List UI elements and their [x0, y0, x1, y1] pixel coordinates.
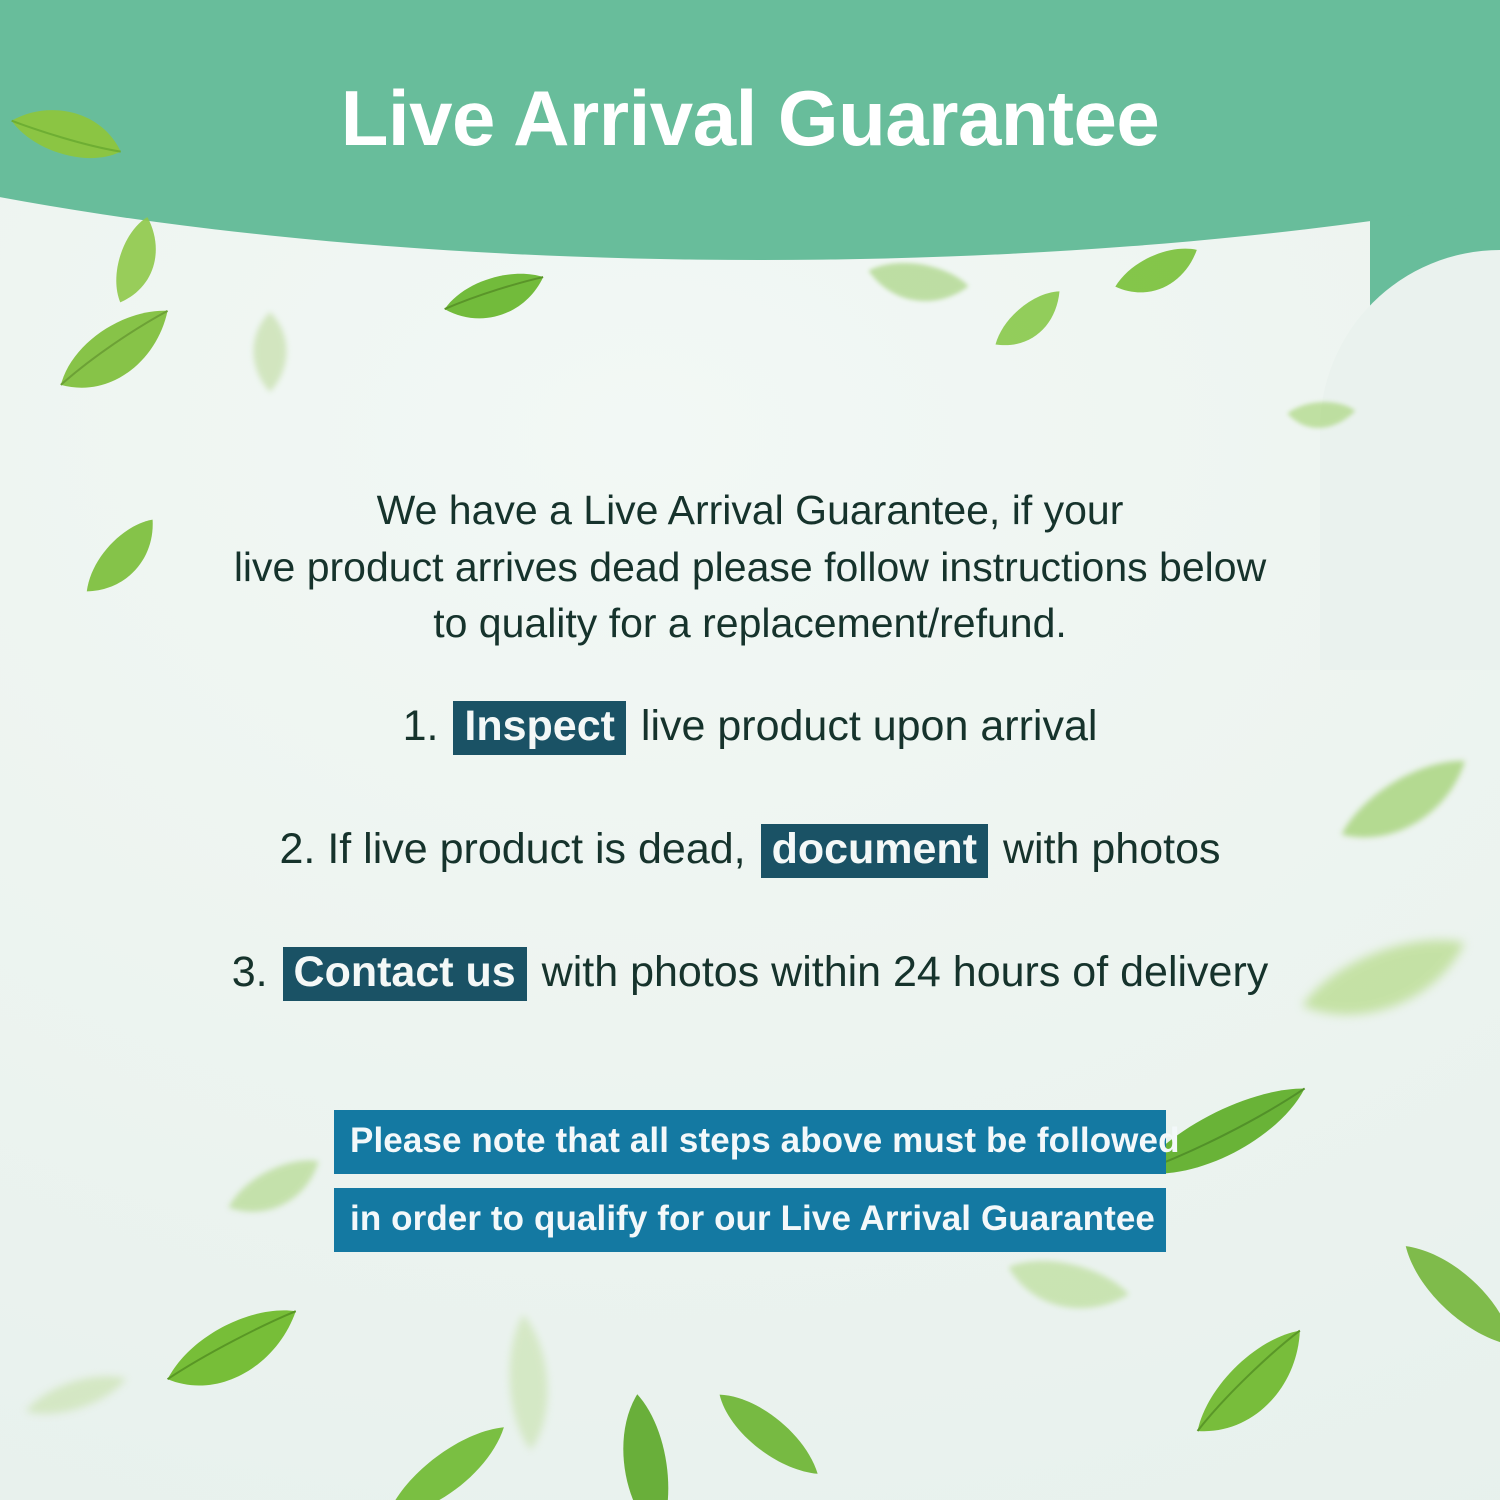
step-text-after-2: with photos	[1003, 825, 1221, 873]
live-arrival-guarantee-graphic: Live Arrival Guarantee	[0, 0, 1500, 1500]
intro-line-2: live product arrives dead please follow …	[150, 539, 1350, 596]
intro-paragraph: We have a Live Arrival Guarantee, if you…	[150, 482, 1350, 652]
step-number-3: 3.	[232, 948, 268, 996]
step-highlight-inspect[interactable]: Inspect	[453, 701, 626, 755]
steps-list: 1. Inspect live product upon arrival 2. …	[0, 700, 1500, 1069]
step-text-before-2: If live product is dead,	[327, 825, 745, 873]
step-highlight-contact-us[interactable]: Contact us	[283, 947, 527, 1001]
step-item-2: 2. If live product is dead, document wit…	[0, 823, 1500, 878]
step-highlight-document[interactable]: document	[761, 824, 988, 878]
intro-line-3: to quality for a replacement/refund.	[150, 595, 1350, 652]
step-text-after-3: with photos within 24 hours of delivery	[542, 948, 1269, 996]
intro-line-1: We have a Live Arrival Guarantee, if you…	[150, 482, 1350, 539]
footer-note-bar-2: in order to qualify for our Live Arrival…	[334, 1188, 1166, 1252]
footer-note-bar-1: Please note that all steps above must be…	[334, 1110, 1166, 1174]
step-item-3: 3. Contact us with photos within 24 hour…	[0, 946, 1500, 1001]
step-item-1: 1. Inspect live product upon arrival	[0, 700, 1500, 755]
step-number-2: 2.	[279, 825, 315, 873]
footer-notes: Please note that all steps above must be…	[0, 1110, 1500, 1266]
step-number-1: 1.	[403, 702, 439, 750]
page-title: Live Arrival Guarantee	[0, 78, 1500, 160]
step-text-after-1: live product upon arrival	[641, 702, 1098, 750]
